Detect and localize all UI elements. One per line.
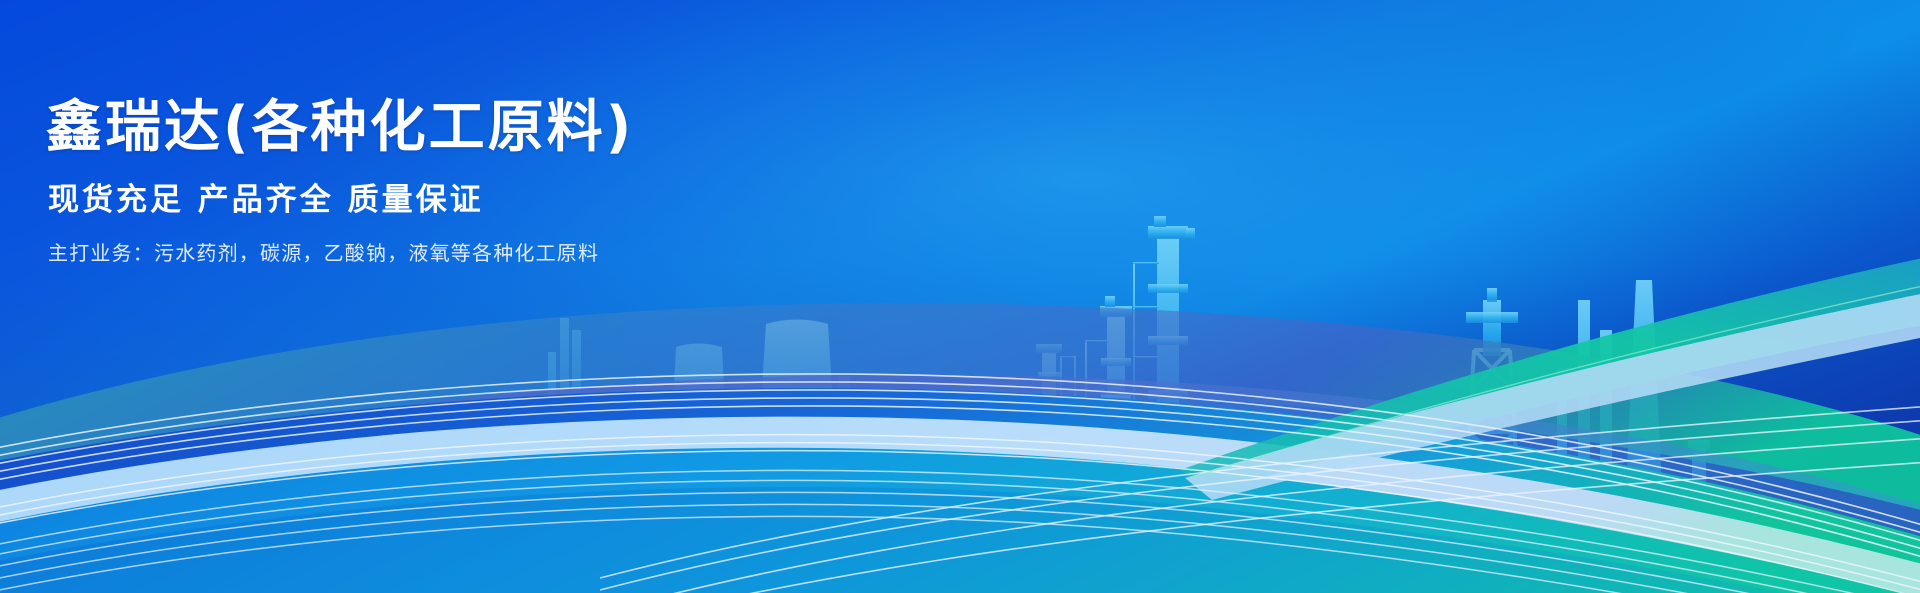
wave-ribbon-layer	[0, 0, 1920, 593]
banner-headline: 鑫瑞达(各种化工原料)	[46, 96, 866, 160]
banner-tagline: 主打业务：污水药剂，碳源，乙酸钠，液氧等各种化工原料	[48, 240, 866, 266]
banner-subheadline: 现货充足 产品齐全 质量保证	[48, 182, 866, 219]
promo-banner: 鑫瑞达(各种化工原料) 现货充足 产品齐全 质量保证 主打业务：污水药剂，碳源，…	[0, 0, 1920, 593]
banner-text-block: 鑫瑞达(各种化工原料) 现货充足 产品齐全 质量保证 主打业务：污水药剂，碳源，…	[46, 96, 866, 266]
